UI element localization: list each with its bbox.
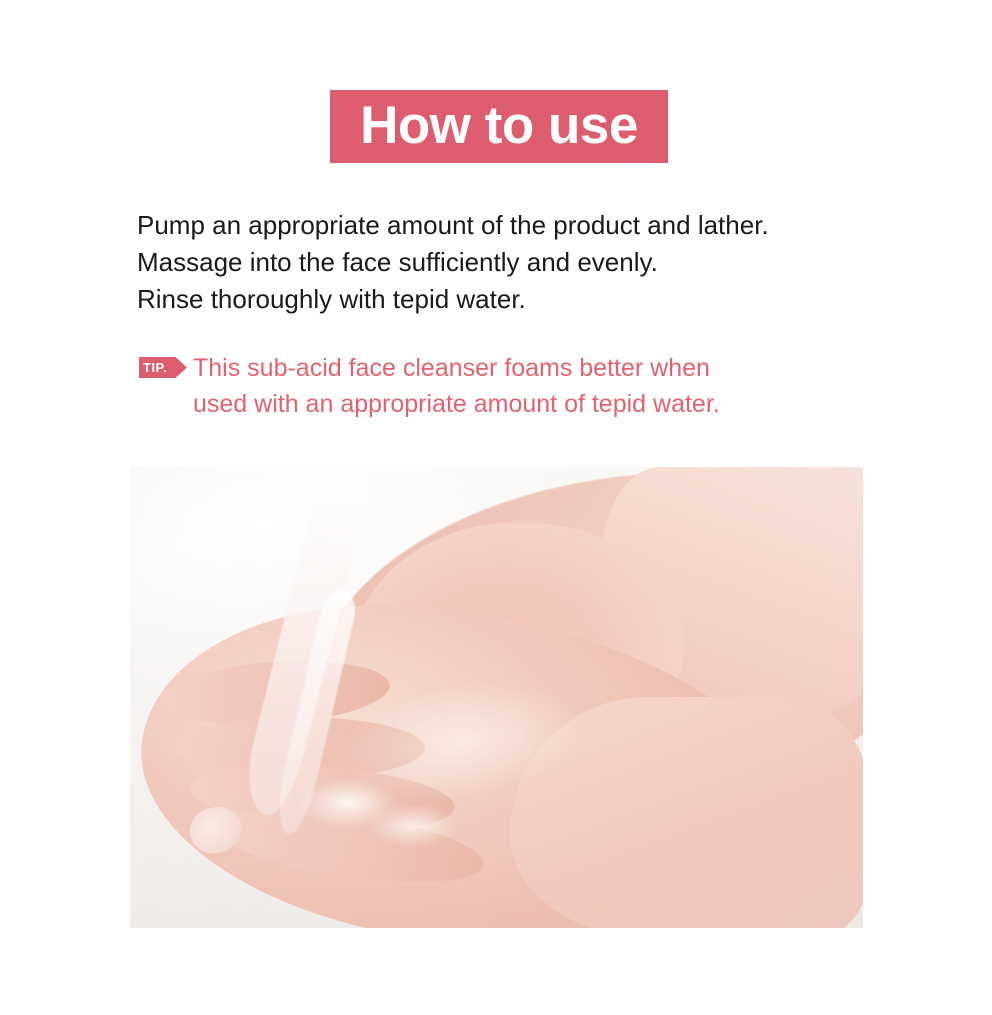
instructions-block: Pump an appropriate amount of the produc… [137,207,897,318]
instruction-line: Pump an appropriate amount of the produc… [137,207,897,244]
how-to-use-banner: How to use [330,90,668,163]
hands-washing-photo [130,467,863,928]
water-splash-shape [300,767,460,857]
tip-block: TIP. This sub-acid face cleanser foams b… [139,350,899,422]
tip-text-column: This sub-acid face cleanser foams better… [193,350,720,422]
tip-badge: TIP. [139,357,187,378]
tip-first-row: TIP. This sub-acid face cleanser foams b… [139,350,899,422]
tip-line: used with an appropriate amount of tepid… [193,386,720,422]
instruction-line: Massage into the face sufficiently and e… [137,244,897,281]
page-title: How to use [360,99,638,155]
instruction-line: Rinse thoroughly with tepid water. [137,281,897,318]
tip-line: This sub-acid face cleanser foams better… [193,350,720,386]
